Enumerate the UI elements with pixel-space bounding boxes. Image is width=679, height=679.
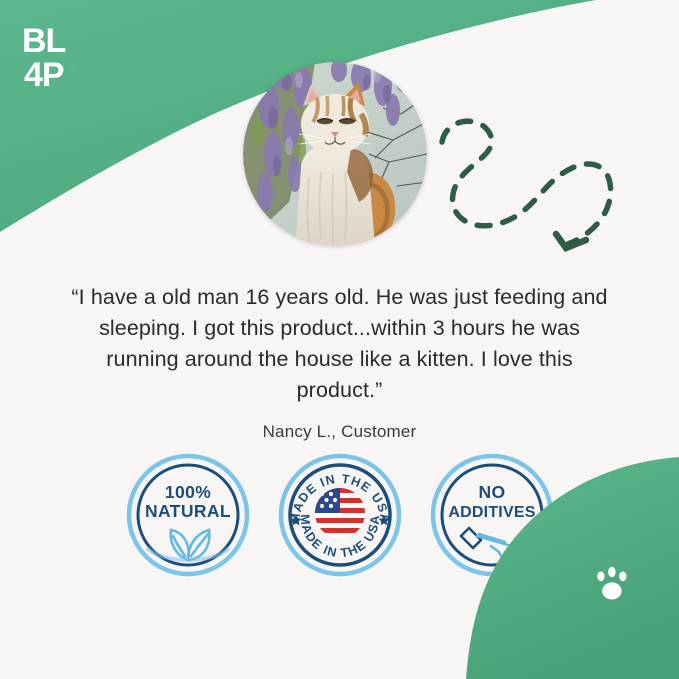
promo-card: BL 4P bbox=[0, 0, 679, 679]
cat-photo bbox=[243, 62, 427, 246]
badge-additives-line1: NO bbox=[478, 482, 505, 502]
testimonial-quote: “I have a old man 16 years old. He was j… bbox=[62, 282, 617, 406]
dropper-icon bbox=[461, 528, 513, 558]
badge-100-percent-natural: 100% NATURAL bbox=[125, 452, 251, 578]
trust-badges-row: 100% NATURAL bbox=[0, 452, 679, 578]
logo-line2: 4P bbox=[24, 56, 64, 94]
arrow-head bbox=[556, 234, 586, 248]
badge-natural-line2: NATURAL bbox=[144, 501, 230, 521]
badge-natural-line1: 100% bbox=[164, 482, 210, 502]
dashed-curved-arrow bbox=[432, 112, 618, 260]
badge-made-in-the-usa: MADE IN THE USA MADE IN THE USA bbox=[277, 452, 403, 578]
logo-line1: BL bbox=[22, 22, 66, 60]
leaf-icon bbox=[170, 530, 209, 560]
usa-flag-icon bbox=[315, 488, 365, 538]
bl4p-logo: BL 4P bbox=[22, 22, 94, 98]
badge-additives-line2: ADDITIVES bbox=[448, 504, 535, 521]
testimonial-attribution: Nancy L., Customer bbox=[62, 422, 617, 442]
testimonial-block: “I have a old man 16 years old. He was j… bbox=[62, 282, 617, 442]
paw-icon bbox=[67, 62, 79, 74]
badge-no-additives: NO ADDITIVES bbox=[429, 452, 555, 578]
